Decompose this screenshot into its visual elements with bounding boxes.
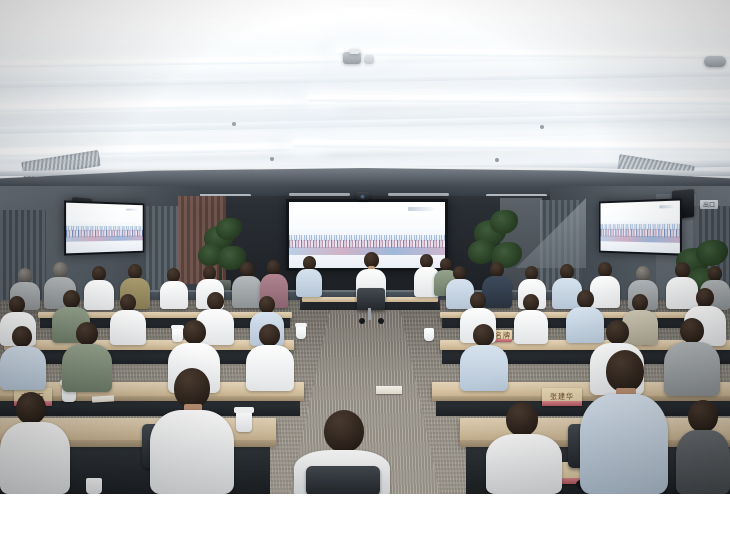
attendee-head (259, 296, 275, 313)
attendee (110, 294, 146, 352)
attendee-foreground-right (580, 350, 668, 494)
attendee (296, 256, 322, 304)
right-auxiliary-display (599, 198, 682, 255)
attendee-head (453, 266, 466, 280)
attendee-head (63, 290, 80, 308)
screen-foreground (66, 241, 143, 254)
attendee-head (420, 254, 433, 268)
attendee-head (675, 262, 690, 278)
attendee-torso (514, 310, 548, 344)
attendee-head (16, 392, 46, 424)
attendee (514, 294, 548, 350)
wall-sign-plate: 出口 (700, 200, 718, 209)
conference-room-photograph: 出口 (0, 0, 730, 494)
attendee-torso (0, 346, 46, 390)
attendee-head (203, 266, 216, 280)
left-auxiliary-display (64, 200, 144, 255)
attendee-torso (150, 410, 234, 494)
tea-cup (236, 412, 252, 432)
attendee-head (525, 266, 538, 280)
chair-column (368, 308, 371, 320)
chair-caster (359, 318, 365, 324)
attendee (486, 402, 562, 494)
attendee (460, 324, 508, 400)
tea-cup-lid (295, 323, 307, 327)
attendee-head (120, 294, 136, 311)
attendee (160, 268, 188, 316)
attendee-head (207, 292, 224, 310)
attendee-torso (246, 345, 294, 391)
attendee (664, 318, 720, 402)
attendee-torso (486, 434, 562, 494)
tea-cup (86, 478, 102, 494)
attendee-torso (0, 422, 70, 494)
attendee-torso (160, 281, 188, 309)
attendee-head (9, 296, 25, 313)
attendee-foreground-left (150, 368, 234, 494)
attendee-head (598, 262, 612, 277)
smoke-detector-icon (232, 122, 236, 126)
task-chair (357, 288, 385, 310)
attendee-torso (676, 430, 730, 494)
tea-cup (296, 326, 306, 339)
attendee-head (696, 288, 714, 307)
attendee-head (473, 324, 494, 346)
attendee-head (12, 326, 32, 347)
attendee (62, 322, 112, 400)
plant-foliage (490, 210, 518, 234)
attendee-head (606, 350, 644, 392)
smoke-detector-icon (540, 125, 544, 129)
screen-logo-watermark (408, 207, 436, 210)
attendee-torso (296, 269, 322, 297)
attendee-head (303, 256, 316, 270)
attendee-head (636, 266, 650, 281)
attendee (0, 326, 46, 398)
attendee-head (76, 322, 98, 345)
ceiling-conference-camera-icon (356, 192, 370, 200)
attendee-torso (664, 342, 720, 396)
attendee-head (560, 264, 574, 279)
attendee-head (267, 260, 280, 275)
attendee-head (606, 320, 629, 344)
attendee-head (680, 318, 704, 343)
attendee (676, 400, 730, 494)
left-display-content (66, 203, 143, 254)
attendee-head (92, 266, 106, 281)
attendee-head (174, 368, 210, 408)
attendee-head (183, 320, 206, 344)
attendee-head (577, 290, 594, 308)
attendee (0, 392, 70, 494)
screen-foreground (601, 241, 680, 254)
plant-foliage (216, 218, 242, 240)
ceiling-speaker-icon (349, 49, 360, 54)
attendee (246, 324, 294, 400)
attendee-head (632, 294, 648, 311)
meeting-booklet (376, 386, 402, 394)
ceiling-fitting-icon (364, 55, 374, 64)
ceiling-band (0, 112, 730, 135)
attendee-head (708, 266, 722, 281)
attendee-head (259, 324, 280, 346)
ceiling-fitting-icon (495, 158, 499, 162)
attendee-head (128, 264, 142, 279)
wall-sign-text: 出口 (703, 200, 715, 209)
chair-caster (378, 318, 384, 324)
attendee-head (18, 268, 32, 283)
attendee-torso (62, 344, 112, 392)
attendee-torso (110, 310, 146, 345)
ceiling-band (0, 70, 730, 89)
attendee-torso (460, 345, 508, 391)
attendee-head (324, 410, 364, 452)
attendee-torso (580, 394, 668, 494)
attendee-head (688, 400, 718, 432)
attendee-head (240, 262, 254, 277)
plant-foliage (696, 240, 728, 266)
attendee-head (523, 294, 539, 311)
attendee-head (470, 292, 486, 309)
ceiling-speaker-icon (704, 56, 726, 67)
tea-cup (424, 328, 434, 341)
ceiling-fitting-icon (270, 157, 274, 161)
right-display-content (601, 200, 680, 253)
attendee-head (490, 262, 504, 277)
task-chair (306, 466, 380, 494)
screen-logo-watermark (659, 205, 674, 208)
attendee-head (53, 262, 68, 278)
attendee-head (506, 402, 538, 436)
tea-cup-lid (234, 407, 254, 413)
attendee-head (167, 268, 180, 282)
